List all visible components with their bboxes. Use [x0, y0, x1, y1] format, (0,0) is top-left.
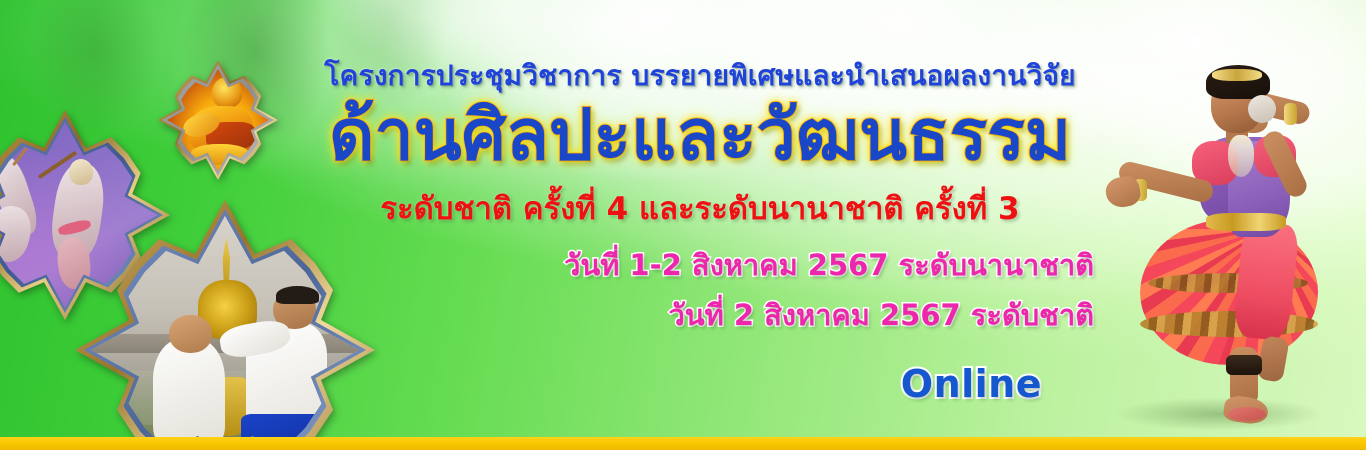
banner-subtitle: ระดับชาติ ครั้งที่ 4 และระดับนานาชาติ คร… [300, 183, 1100, 233]
date-national: วันที่ 2 สิงหาคม 2567 ระดับชาติ [300, 292, 1100, 338]
event-mode-label: Online [300, 362, 1100, 406]
buddha-statue-photo-frame [158, 60, 278, 180]
conference-banner: โครงการประชุมวิชาการ บรรยายพิเศษและนำเสน… [0, 0, 1366, 450]
banner-heading: โครงการประชุมวิชาการ บรรยายพิเศษและนำเสน… [300, 60, 1100, 91]
indian-dancer-photo [1088, 37, 1348, 437]
date-international: วันที่ 1-2 สิงหาคม 2567 ระดับนานาชาติ [300, 242, 1100, 288]
banner-text-block: โครงการประชุมวิชาการ บรรยายพิเศษและนำเสน… [300, 60, 1100, 406]
bottom-gold-strip [0, 437, 1366, 450]
dancer-shadow [1114, 397, 1324, 431]
buddha-statue-photo [167, 69, 269, 171]
photo-collage [0, 55, 330, 450]
banner-title: ด้านศิลปะและวัฒนธรรม [300, 99, 1100, 173]
